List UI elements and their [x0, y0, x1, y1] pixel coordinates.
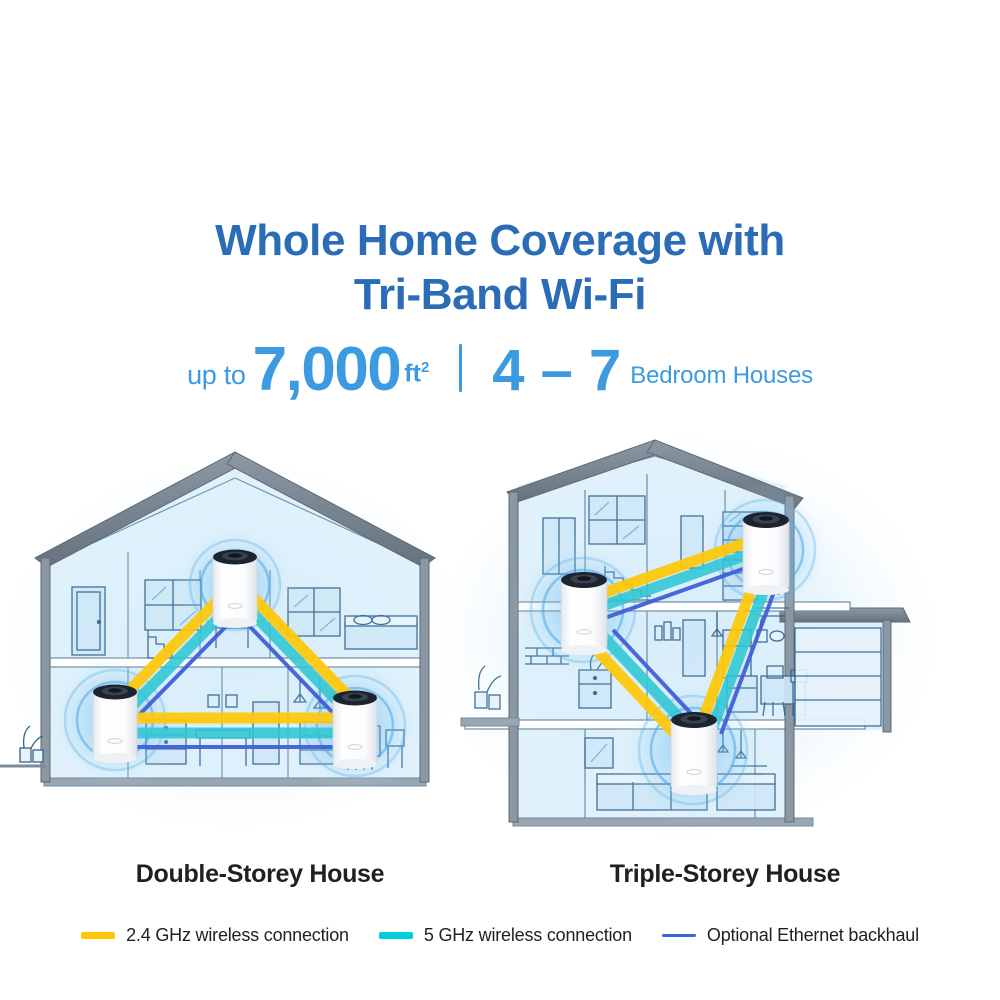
legend-item-24ghz: 2.4 GHz wireless connection	[81, 925, 349, 946]
coverage-unit: ft2	[400, 359, 429, 400]
coverage-unit-superscript: 2	[421, 359, 429, 376]
coverage-value: 7,000	[253, 340, 401, 400]
bedroom-range: 4 – 7	[492, 342, 621, 400]
framed-picture	[585, 738, 613, 768]
legend-label-24ghz: 2.4 GHz wireless connection	[126, 925, 349, 946]
deco-mesh-unit	[561, 572, 607, 655]
wall-left	[509, 492, 518, 822]
headline-line-2: Tri-Band Wi-Fi	[0, 268, 1000, 322]
bed	[345, 616, 417, 650]
coverage-unit-text: ft	[404, 359, 421, 387]
stats-row: up to 7,000 ft2 4 – 7 Bedroom Houses	[0, 340, 1000, 400]
door-upper	[72, 587, 105, 655]
triple-storey-illustration	[455, 430, 1000, 870]
bedroom-label: Bedroom Houses	[621, 362, 813, 400]
deco-mesh-unit	[743, 512, 789, 595]
coverage-prefix: up to	[187, 360, 253, 400]
legend-swatch-5ghz-icon	[379, 932, 413, 939]
stats-divider	[459, 344, 462, 392]
legend-label-5ghz: 5 GHz wireless connection	[424, 925, 632, 946]
deco-mesh-unit	[671, 712, 717, 795]
window-top	[589, 496, 645, 544]
double-storey-illustration	[0, 430, 470, 870]
wall-right	[420, 558, 429, 782]
legend-label-ethernet: Optional Ethernet backhaul	[707, 925, 919, 946]
page-title: Whole Home Coverage with Tri-Band Wi-Fi	[0, 214, 1000, 322]
door-mid	[683, 620, 705, 676]
garage-door	[795, 628, 881, 726]
legend-item-5ghz: 5 GHz wireless connection	[379, 925, 632, 946]
legend-swatch-ethernet-icon	[662, 934, 696, 937]
triple-storey-caption: Triple-Storey House	[505, 860, 945, 889]
legend: 2.4 GHz wireless connection 5 GHz wirele…	[0, 925, 1000, 946]
wall-left	[41, 558, 50, 782]
poster-canvas: Whole Home Coverage with Tri-Band Wi-Fi …	[0, 0, 1000, 1000]
deco-mesh-unit	[213, 550, 257, 629]
deco-mesh-unit	[333, 691, 377, 770]
legend-swatch-24ghz-icon	[81, 932, 115, 939]
double-storey-caption: Double-Storey House	[40, 860, 480, 889]
deco-mesh-unit	[93, 685, 137, 764]
legend-item-ethernet: Optional Ethernet backhaul	[662, 925, 919, 946]
coverage-stat: up to 7,000 ft2	[187, 340, 429, 400]
bedroom-stat: 4 – 7 Bedroom Houses	[492, 342, 813, 400]
headline-line-1: Whole Home Coverage with	[215, 216, 785, 265]
house-illustrations	[0, 430, 1000, 870]
